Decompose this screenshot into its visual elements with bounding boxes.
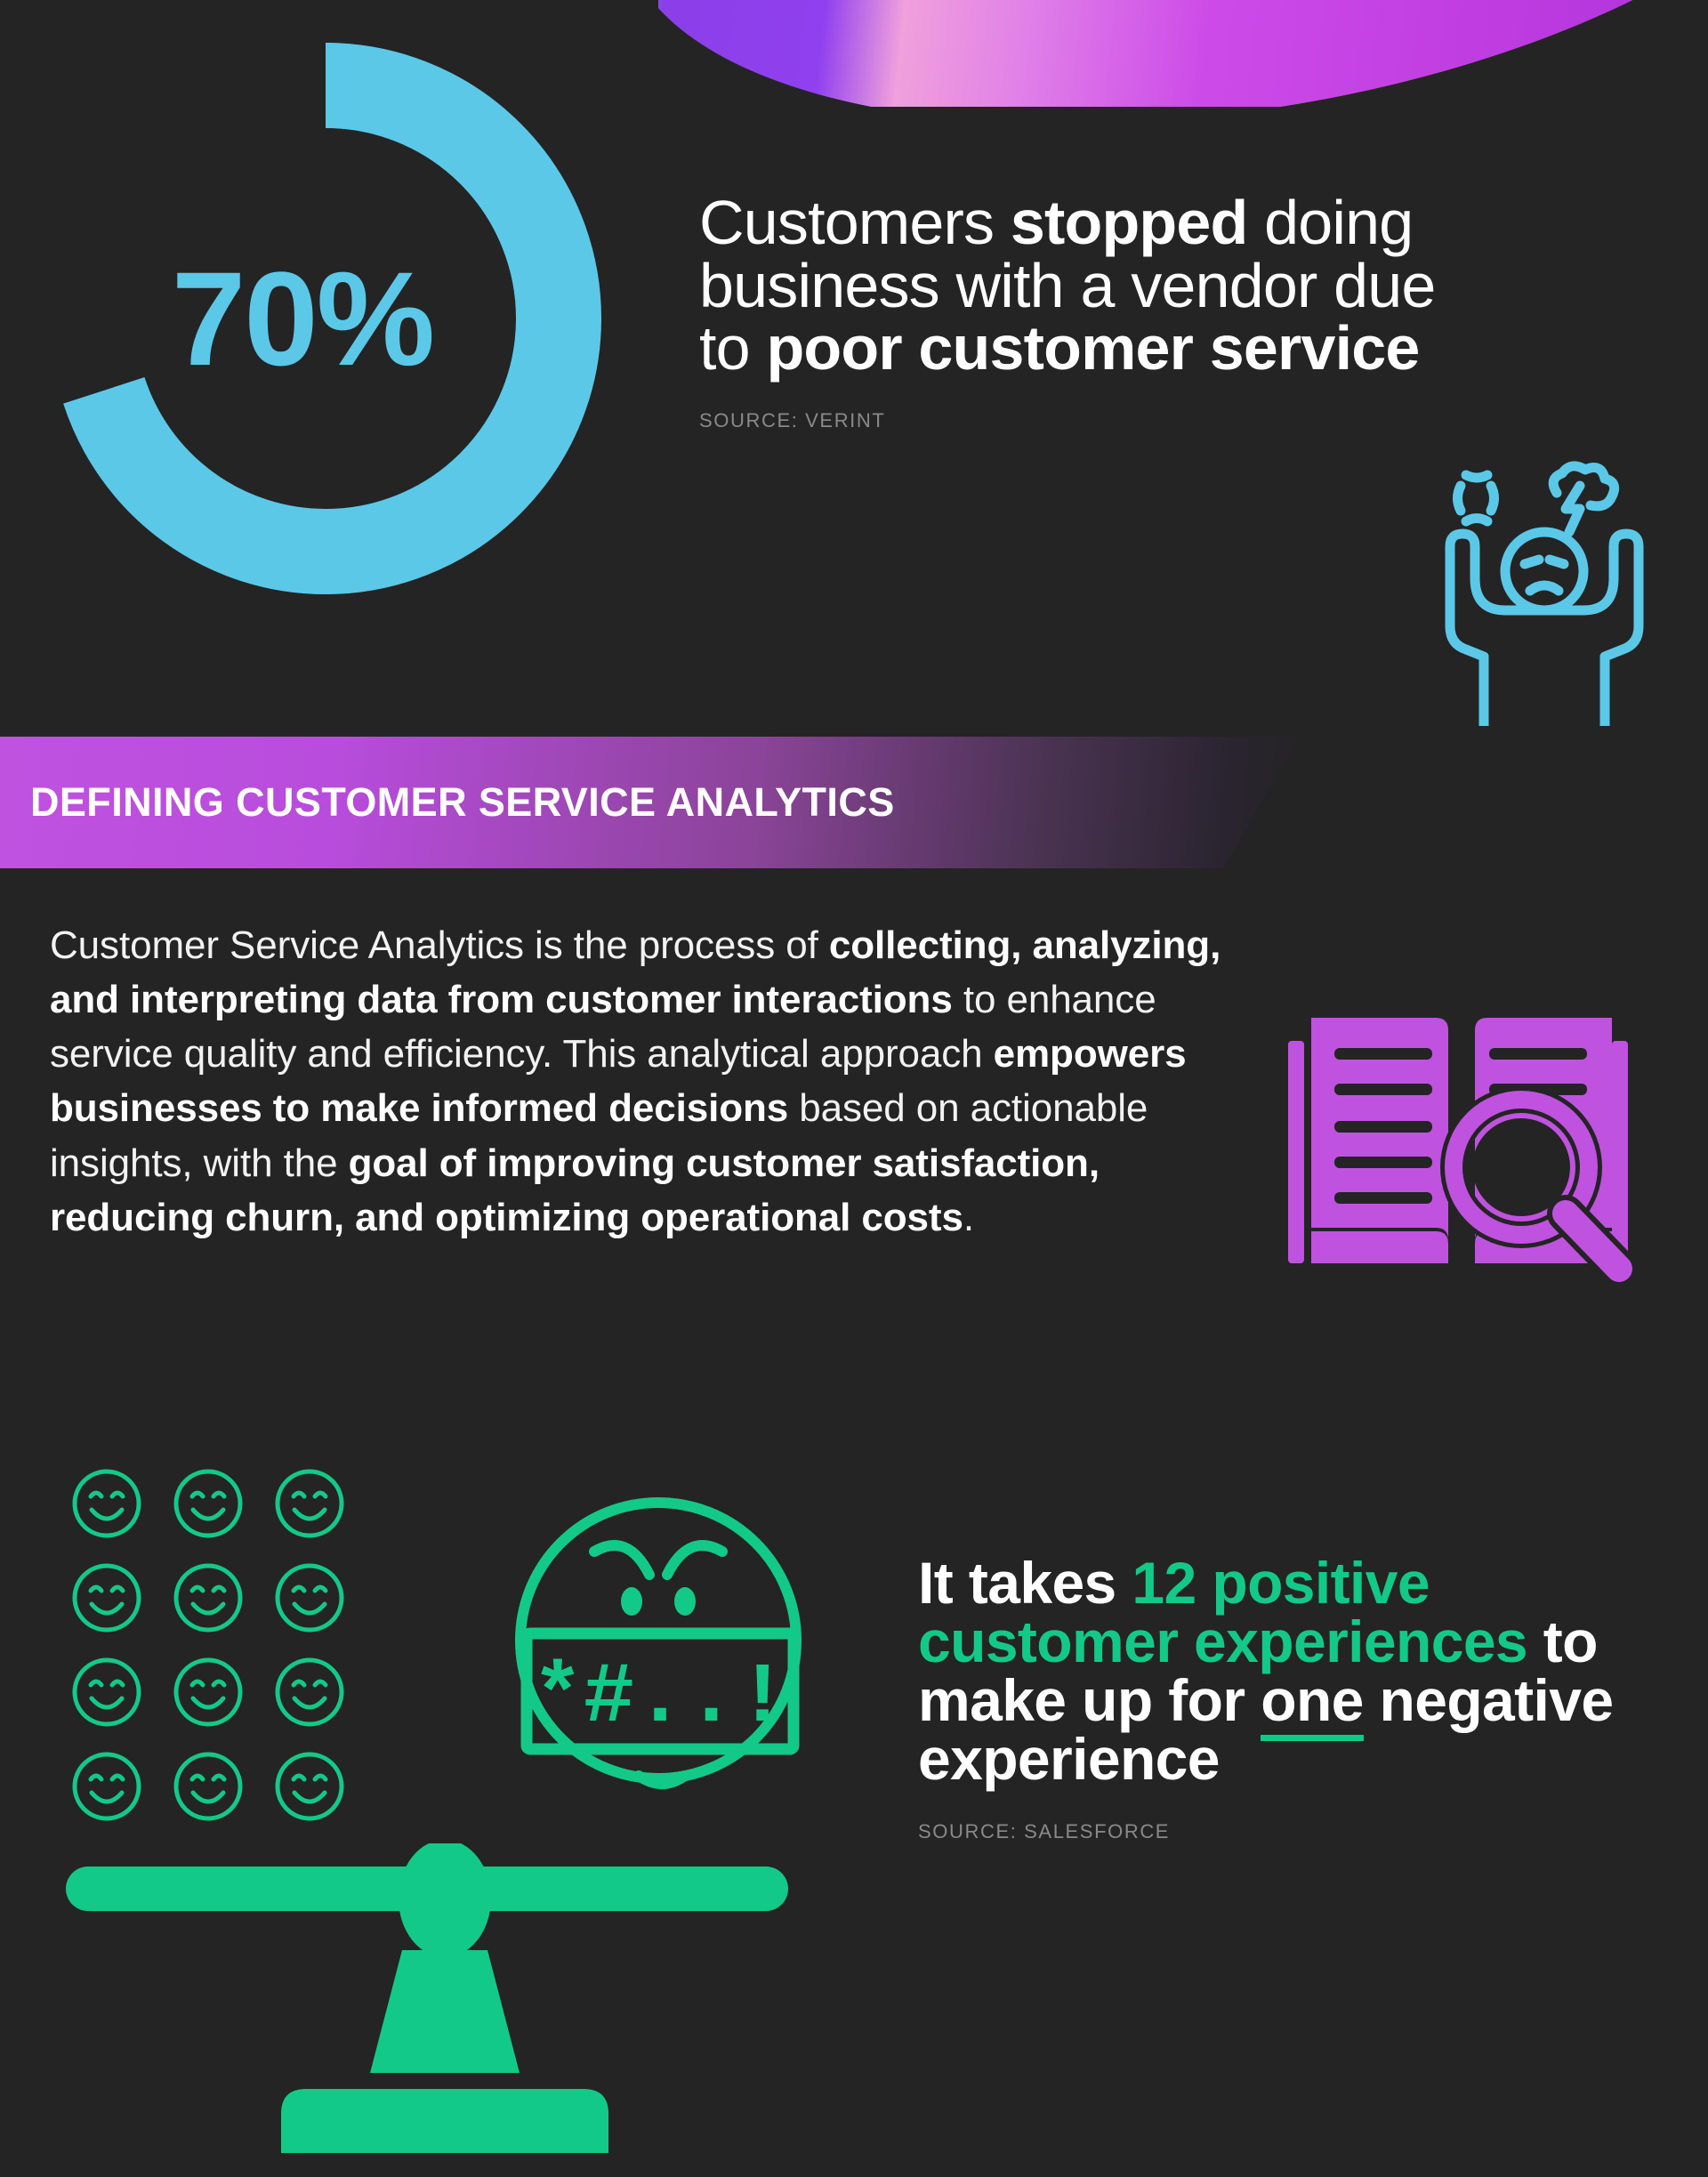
stat-bottom-underlined: one	[1261, 1667, 1364, 1741]
book-bottom-left	[1311, 1231, 1448, 1263]
definition-paragraph: Customer Service Analytics is the proces…	[50, 918, 1224, 1245]
smiley-face-icon	[69, 1655, 144, 1730]
smiley-face-icon	[69, 1466, 144, 1541]
angry-eye-left	[1525, 560, 1539, 564]
stat-bottom-plain-1: It takes	[918, 1550, 1132, 1616]
stat-bottom-headline: It takes 12 positive customer experience…	[918, 1553, 1692, 1788]
arm-right	[1583, 534, 1639, 726]
smiley-face-grid	[69, 1466, 352, 1824]
stat-top-headline: Customers stopped doing business with a …	[699, 191, 1500, 380]
headline-bold-1: stopped	[1011, 188, 1248, 257]
angry-frown	[1530, 585, 1559, 591]
scale-column	[370, 1950, 520, 2073]
headline-bold-2: poor customer service	[766, 313, 1419, 383]
definition-plain-4: .	[963, 1196, 974, 1239]
angry-brow-right	[667, 1545, 722, 1575]
censored-text: *#..!	[532, 1649, 788, 1746]
section-banner: DEFINING CUSTOMER SERVICE ANALYTICS	[0, 737, 1299, 868]
scale-pivot	[399, 1843, 491, 1957]
frustration-burst-icon	[1458, 475, 1494, 521]
angry-eye-right	[674, 1587, 696, 1616]
smiley-face-icon	[171, 1466, 246, 1541]
angry-eye-left	[621, 1587, 642, 1616]
arm-left	[1450, 534, 1505, 726]
smiley-face-icon	[69, 1749, 144, 1824]
angry-brow-left	[594, 1545, 649, 1575]
balance-scale-icon	[53, 1843, 801, 2177]
stat-top-source: SOURCE: VERINT	[699, 409, 1500, 432]
stat-bottom-block: It takes 12 positive customer experience…	[918, 1553, 1692, 1843]
stat-top-block: Customers stopped doing business with a …	[699, 191, 1500, 432]
smiley-face-icon	[272, 1749, 347, 1824]
headline-plain-1: Customers	[699, 188, 1011, 257]
smiley-face-icon	[171, 1749, 246, 1824]
smiley-face-icon	[69, 1560, 144, 1635]
anger-cloud-icon	[1553, 466, 1615, 532]
book-spine-left	[1288, 1041, 1304, 1263]
smiley-face-icon	[171, 1560, 246, 1635]
book-magnifier-icon	[1279, 1009, 1644, 1285]
gradient-swoosh-decoration	[658, 0, 1708, 107]
infographic-page: 70% Customers stopped doing business wit…	[0, 0, 1708, 2177]
gradient-swoosh-shape	[658, 0, 1708, 107]
angry-eye-right	[1550, 560, 1564, 564]
smiley-face-icon	[272, 1466, 347, 1541]
stat-bottom-source: SOURCE: SALESFORCE	[918, 1820, 1692, 1843]
donut-chart-70: 70%	[41, 25, 610, 612]
definition-plain-1: Customer Service Analytics is the proces…	[50, 923, 829, 967]
smiley-face-icon	[171, 1655, 246, 1730]
angry-head	[1505, 532, 1583, 610]
donut-value-label: 70%	[41, 25, 610, 612]
book-spine-right	[1612, 1041, 1628, 1263]
angry-censored-face-icon: *#..!	[480, 1466, 836, 1858]
smiley-face-icon	[272, 1560, 347, 1635]
scale-beam-right	[504, 1867, 788, 1911]
angry-person-icon	[1423, 459, 1665, 726]
section-banner-title: DEFINING CUSTOMER SERVICE ANALYTICS	[0, 779, 895, 826]
scale-base	[281, 2089, 608, 2153]
smiley-face-icon	[272, 1655, 347, 1730]
